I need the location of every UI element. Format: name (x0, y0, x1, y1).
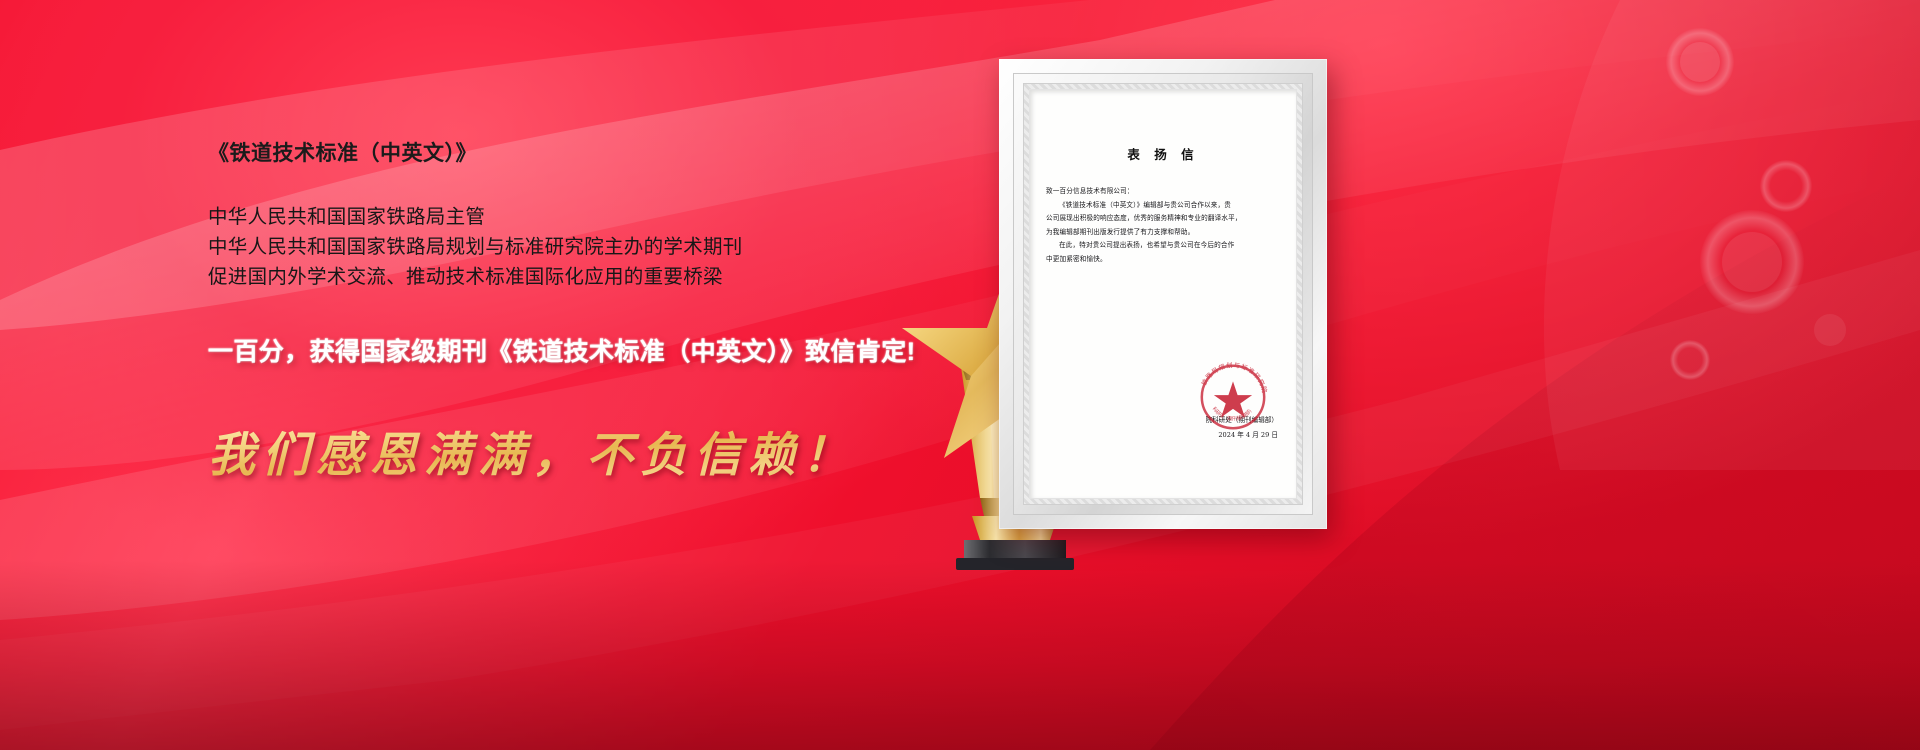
frame-inner-band: 表 扬 信 致一百分信息技术有限公司： 《铁道技术标准（中英文）》编辑部与贵公司… (1023, 83, 1303, 505)
certificate-title: 表 扬 信 (1046, 144, 1280, 163)
headline-award: 一百分，获得国家级期刊《铁道技术标准（中英文）》致信肯定! (208, 332, 988, 368)
certificate-body-line-3: 为我编辑部期刊出版发行提供了有力支撑和帮助。 (1046, 226, 1280, 240)
certificate-body-line-2: 公司展现出积极的响应态度，优秀的服务精神和专业的翻译水平， (1046, 212, 1280, 226)
calligraphy-slogan: 我们感恩满满，不负信赖！ (208, 416, 988, 485)
certificate-body-line-1: 《铁道技术标准（中英文）》编辑部与贵公司合作以来，贵 (1046, 199, 1280, 213)
certificate-body-line-4: 在此，特对贵公司提出表扬，也希望与贵公司在今后的合作 (1046, 239, 1280, 253)
description-line-2: 中华人民共和国国家铁路局规划与标准研究院主办的学术期刊 (208, 233, 988, 263)
journal-title: 《铁道技术标准（中英文）》 (208, 140, 988, 167)
floor-shadow (0, 560, 1920, 750)
frame-bevel: 表 扬 信 致一百分信息技术有限公司： 《铁道技术标准（中英文）》编辑部与贵公司… (1013, 73, 1313, 515)
description-line-1: 中华人民共和国国家铁路局主管 (208, 203, 988, 233)
certificate-frame: 表 扬 信 致一百分信息技术有限公司： 《铁道技术标准（中英文）》编辑部与贵公司… (999, 59, 1327, 529)
banner-text-block: 《铁道技术标准（中英文）》 中华人民共和国国家铁路局主管 中华人民共和国国家铁路… (208, 140, 988, 485)
promo-banner: 《铁道技术标准（中英文）》 中华人民共和国国家铁路局主管 中华人民共和国国家铁路… (0, 0, 1920, 750)
certificate-salutation: 致一百分信息技术有限公司： (1046, 185, 1280, 199)
certificate-paper: 表 扬 信 致一百分信息技术有限公司： 《铁道技术标准（中英文）》编辑部与贵公司… (1030, 90, 1296, 498)
certificate-body-line-5: 中更加紧密和愉快。 (1046, 253, 1280, 267)
official-seal-stamp: 铁路局规划与标准研究院 科研处（期刊编辑部） (1194, 358, 1272, 436)
description-line-3: 促进国内外学术交流、推动技术标准国际化应用的重要桥梁 (208, 263, 988, 293)
